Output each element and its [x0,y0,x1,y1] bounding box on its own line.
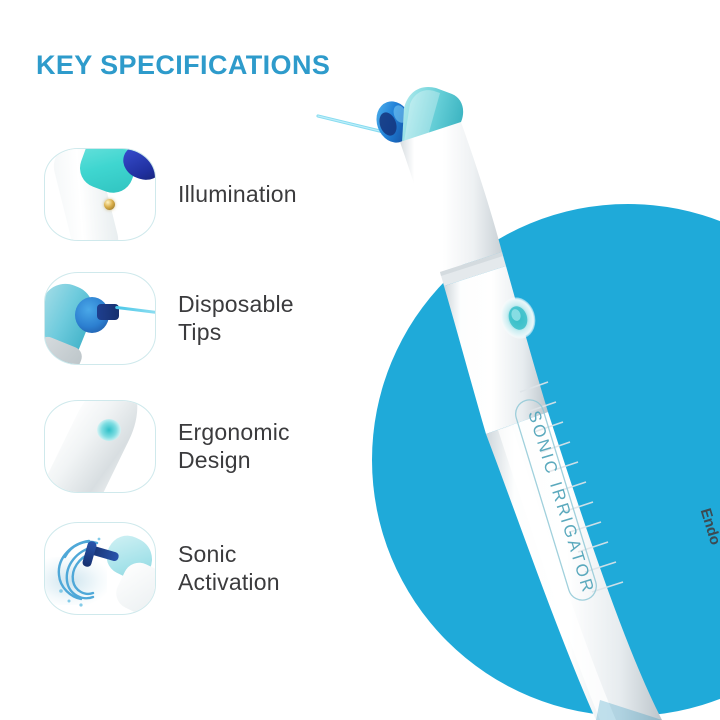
disposable-tips-thumbnail [44,272,156,365]
feature-item-ergonomic-design[interactable]: Ergonomic Design [44,400,290,493]
feature-item-sonic-activation[interactable]: Sonic Activation [44,522,280,615]
feature-label: Sonic Activation [178,541,280,595]
product-secondary-text: Endo [697,506,720,547]
feature-label: Ergonomic Design [178,419,290,473]
feature-label: Disposable Tips [178,291,294,345]
thumb-needle-shape [115,306,156,315]
sonic-activation-thumbnail [44,522,156,615]
feature-label: Illumination [178,181,297,208]
thumb-logo-mark [105,464,135,488]
led-light-icon [104,199,115,210]
page-title: KEY SPECIFICATIONS [36,50,330,81]
ergonomic-design-thumbnail [44,400,156,493]
power-button-icon [97,419,121,441]
feature-item-illumination[interactable]: Illumination [44,148,297,241]
illumination-thumbnail [44,148,156,241]
feature-item-disposable-tips[interactable]: Disposable Tips [44,272,294,365]
infographic-canvas: SONIC IRRIGATOR Endo KEY SPECIFICATIONS … [0,0,720,720]
thumb-handle-shape [44,400,151,493]
